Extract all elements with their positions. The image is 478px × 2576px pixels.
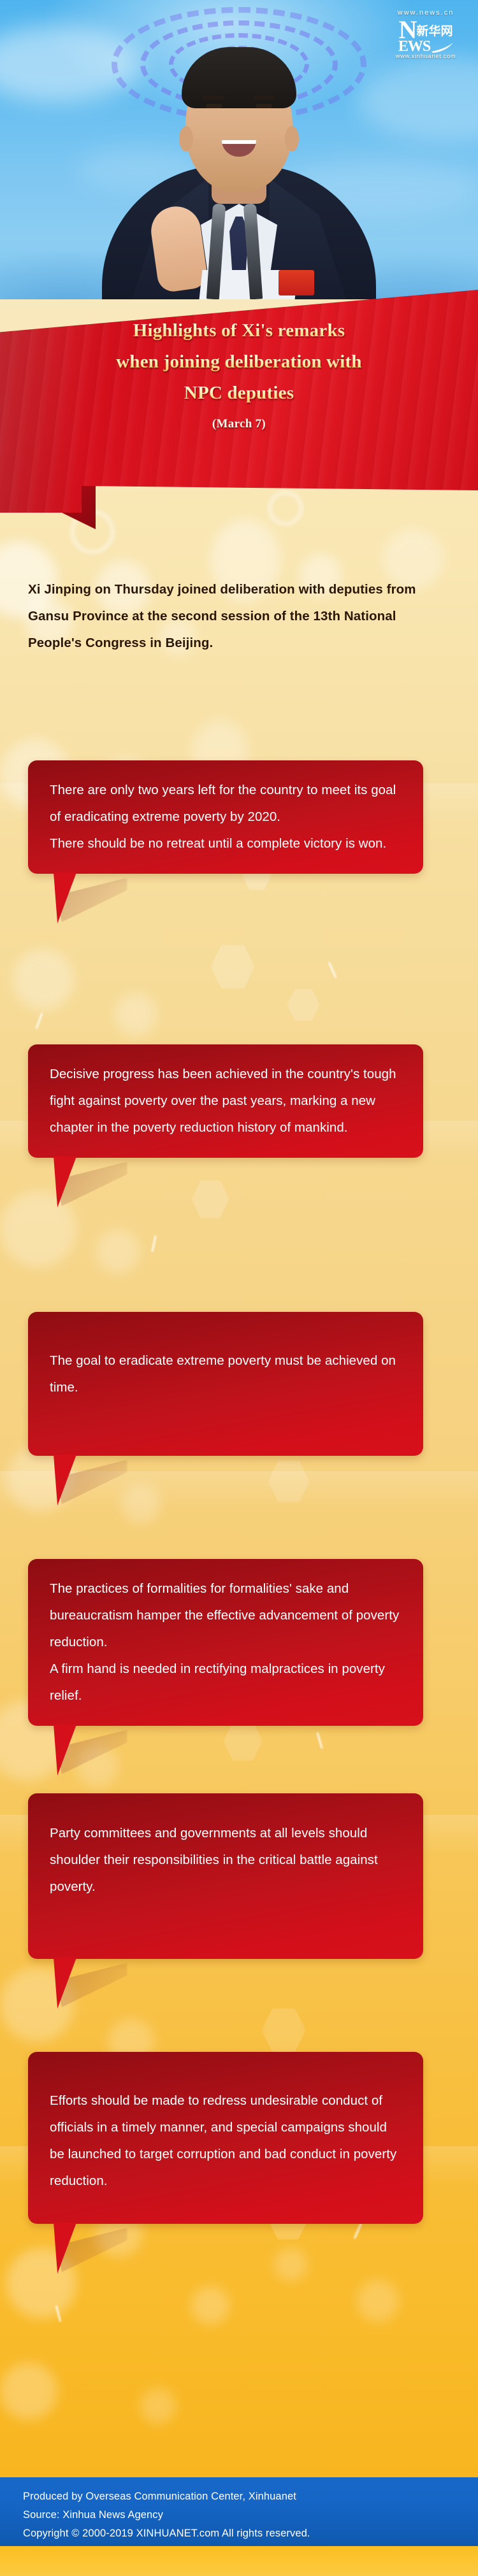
quote-bubble-1-tail <box>54 874 93 923</box>
quote-bubble-5: Party committees and governments at all … <box>28 1793 423 1959</box>
quote-bubble-4-box: The practices of formalities for formali… <box>28 1559 423 1726</box>
quote-bubble-5-box: Party committees and governments at all … <box>28 1793 423 1959</box>
quote-bubble-3-box: The goal to eradicate extreme poverty mu… <box>28 1312 423 1456</box>
quote-line: There are only two years left for the co… <box>50 777 402 830</box>
title-ribbon: Highlights of Xi's remarks when joining … <box>0 290 478 538</box>
title-line-3: NPC deputies <box>0 378 478 409</box>
title-date: (March 7) <box>0 417 478 431</box>
quote-line: The goal to eradicate extreme poverty mu… <box>50 1348 402 1401</box>
logo-chinese-name: 新华网 <box>416 22 453 39</box>
quote-bubble-2-tail <box>54 1158 93 1207</box>
footer-copyright: Copyright © 2000-2019 XINHUANET.com All … <box>23 2524 478 2543</box>
quote-line: The practices of formalities for formali… <box>50 1576 402 1656</box>
title-line-2: when joining deliberation with <box>0 346 478 378</box>
swoosh-icon <box>431 43 453 53</box>
quote-bubble-1: There are only two years left for the co… <box>28 760 423 874</box>
intro-paragraph: Xi Jinping on Thursday joined deliberati… <box>28 576 436 657</box>
quote-line: Decisive progress has been achieved in t… <box>50 1061 402 1141</box>
quote-line: A firm hand is needed in rectifying malp… <box>50 1656 402 1709</box>
quote-bubble-3-tail <box>54 1456 93 1505</box>
xinhua-logo[interactable]: www.news.cn N 新华网 EWS www.xinhuanet.com <box>385 9 467 60</box>
quote-line: Efforts should be made to redress undesi… <box>50 2088 402 2195</box>
footer-bottom-strip <box>0 2546 478 2576</box>
quote-bubble-2-box: Decisive progress has been achieved in t… <box>28 1044 423 1158</box>
quote-bubble-4: The practices of formalities for formali… <box>28 1559 423 1726</box>
logo-top-url: www.news.cn <box>385 9 467 17</box>
quote-bubble-3: The goal to eradicate extreme poverty mu… <box>28 1312 423 1456</box>
quote-line: There should be no retreat until a compl… <box>50 830 402 857</box>
quote-bubble-2: Decisive progress has been achieved in t… <box>28 1044 423 1158</box>
quote-bubble-6-box: Efforts should be made to redress undesi… <box>28 2052 423 2224</box>
quote-bubble-6: Efforts should be made to redress undesi… <box>28 2052 423 2224</box>
title-line-1: Highlights of Xi's remarks <box>0 315 478 346</box>
footer-bar: Produced by Overseas Communication Cente… <box>0 2477 478 2546</box>
speaker-portrait <box>92 32 386 299</box>
quote-bubble-6-tail <box>54 2224 93 2274</box>
footer-source: Source: Xinhua News Agency <box>23 2506 478 2524</box>
quote-bubble-4-tail <box>54 1726 93 1775</box>
logo-letter-n: N <box>399 19 417 41</box>
title-text-block: Highlights of Xi's remarks when joining … <box>0 315 478 431</box>
footer-produced-by: Produced by Overseas Communication Cente… <box>23 2487 478 2506</box>
quote-bubble-5-tail <box>54 1959 93 2009</box>
quote-bubble-1-box: There are only two years left for the co… <box>28 760 423 874</box>
quote-line: Party committees and governments at all … <box>50 1820 402 1900</box>
logo-bottom-url: www.xinhuanet.com <box>385 53 467 60</box>
hero-photo: www.news.cn N 新华网 EWS www.xinhuanet.com <box>0 0 478 299</box>
